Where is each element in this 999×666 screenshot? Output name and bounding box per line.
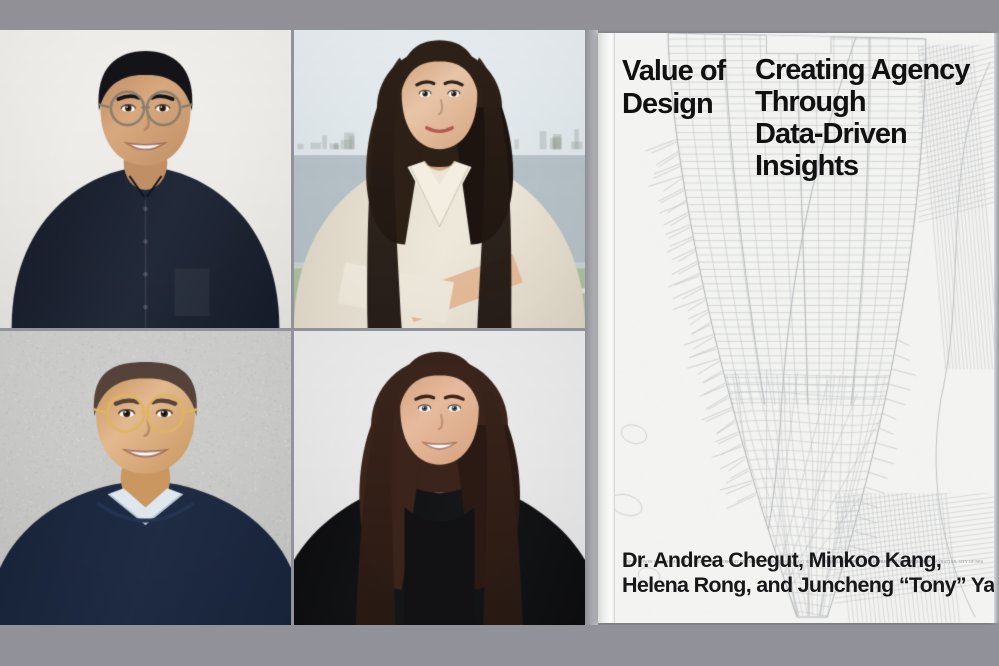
screenshot-stage: Value of Design Creating Agency Through … (0, 0, 999, 666)
headshot-bottom-right (294, 331, 585, 625)
headshot-top-left (0, 30, 291, 328)
book-subtitle-right-column: Creating Agency Through Data-Driven Insi… (755, 54, 969, 182)
title-line: Insights (755, 150, 969, 182)
title-line: Design (622, 88, 725, 121)
author-line: Helena Rong, and Juncheng “Tony” Yang (622, 573, 994, 598)
headshot-image (0, 331, 291, 625)
book-cover: Value of Design Creating Agency Through … (598, 33, 994, 623)
headshot-image (0, 30, 291, 328)
headshot-top-right (294, 30, 585, 328)
headshot-bottom-left (0, 331, 291, 625)
right-edge-shadow (994, 33, 999, 623)
author-line: Dr. Andrea Chegut, Minkoo Kang, (622, 548, 994, 573)
title-line: Through (755, 86, 969, 118)
headshot-image (294, 331, 585, 625)
headshot-image (294, 30, 585, 328)
cover-typography: Value of Design Creating Agency Through … (615, 33, 994, 623)
author-headshot-grid (0, 30, 585, 625)
book-front-face: Value of Design Creating Agency Through … (615, 33, 994, 623)
grid-book-gap (585, 30, 598, 625)
title-line: Data-Driven (755, 118, 969, 150)
book-authors: Dr. Andrea Chegut, Minkoo Kang, Helena R… (622, 548, 994, 598)
title-line: Creating Agency (755, 54, 969, 86)
title-line: Value of (622, 55, 725, 88)
book-spine (598, 33, 615, 623)
book-title-left-column: Value of Design (622, 55, 725, 121)
top-frame-bar (0, 0, 999, 30)
bottom-frame-bar (0, 625, 999, 666)
